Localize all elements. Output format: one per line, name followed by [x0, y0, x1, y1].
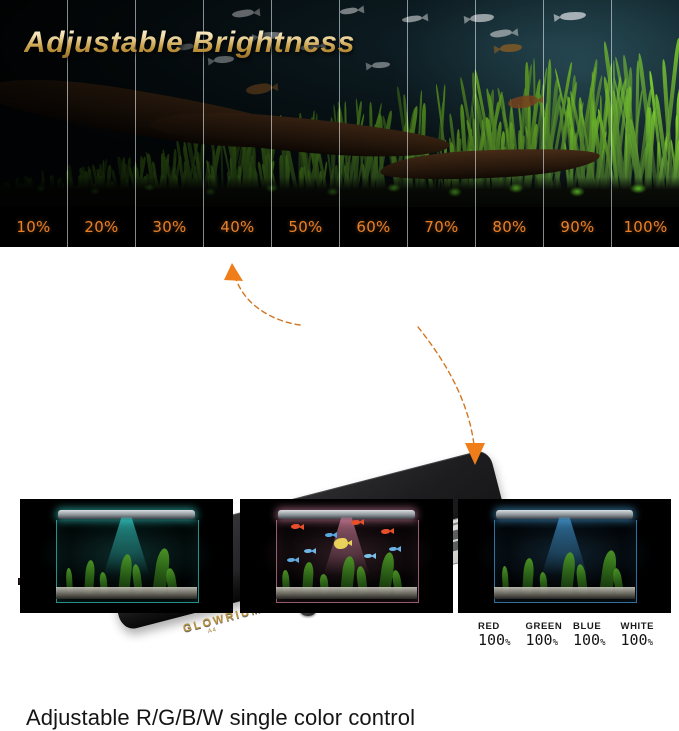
brightness-level-label: 10%: [16, 218, 50, 236]
tank-photo-pink: [240, 499, 453, 613]
brightness-label-bar: 50%: [272, 207, 339, 247]
brightness-column: 70%: [408, 0, 476, 247]
channel-white-value: 100%: [621, 632, 669, 649]
channel-white: WHITE 100%: [621, 621, 669, 657]
tank-fish: [334, 538, 348, 549]
brightness-level-label: 40%: [220, 218, 254, 236]
arrow-up-head: [224, 263, 243, 281]
brightness-level-label: 80%: [492, 218, 526, 236]
brightness-level-label: 90%: [560, 218, 594, 236]
tank-gravel: [56, 587, 197, 599]
brightness-level-label: 70%: [424, 218, 458, 236]
tank-gravel: [494, 587, 635, 599]
channel-blue: BLUE 100%: [573, 621, 621, 657]
brightness-label-bar: 30%: [136, 207, 203, 247]
rgbw-readout: RED 100% GREEN 100% BLUE 100% WHITE 100%: [478, 621, 668, 657]
brightness-label-bar: 90%: [544, 207, 611, 247]
brightness-label-bar: 40%: [204, 207, 271, 247]
tank-fish: [381, 529, 390, 534]
tank-photo-row: [0, 499, 679, 613]
tank-fish: [364, 554, 372, 558]
brightness-label-bar: 60%: [340, 207, 407, 247]
channel-green: GREEN 100%: [526, 621, 574, 657]
channel-green-value: 100%: [526, 632, 574, 649]
tank-fish: [351, 520, 360, 525]
tank-fish: [325, 533, 333, 537]
page-title: Adjustable Brightness: [24, 26, 355, 60]
channel-blue-value: 100%: [573, 632, 621, 649]
remote-model-label: A4: [207, 627, 217, 635]
tank-fish: [304, 549, 312, 553]
tank-photo-blue: [458, 499, 671, 613]
section-subheading: Adjustable R/G/B/W single color control: [26, 705, 415, 731]
brightness-banner: 10%20%30%40%50%60%70%80%90%100% Adjustab…: [0, 0, 679, 247]
tank-photo-teal: [20, 499, 233, 613]
brightness-level-label: 50%: [288, 218, 322, 236]
callout-arrows: [0, 247, 679, 491]
brightness-label-bar: 80%: [476, 207, 543, 247]
brightness-label-bar: 10%: [0, 207, 67, 247]
channel-red-value: 100%: [478, 632, 526, 649]
brightness-column: 90%: [544, 0, 612, 247]
brightness-level-label: 30%: [152, 218, 186, 236]
arrow-down-head: [465, 443, 485, 465]
channel-red: RED 100%: [478, 621, 526, 657]
brightness-level-label: 20%: [84, 218, 118, 236]
arrow-up-path: [236, 279, 300, 325]
tank-gravel: [276, 587, 417, 599]
brightness-label-bar: 100%: [612, 207, 679, 247]
arrow-down-path: [418, 327, 474, 445]
tank-fish: [287, 558, 295, 562]
brightness-label-bar: 70%: [408, 207, 475, 247]
brightness-label-bar: 20%: [68, 207, 135, 247]
remote-section: MODE GLOWRIUM A4 RED 100% GREEN 100% BLU…: [0, 247, 679, 491]
tank-fish: [389, 547, 397, 551]
brightness-column: 80%: [476, 0, 544, 247]
tank-fish: [291, 524, 300, 529]
brightness-level-label: 100%: [623, 218, 667, 236]
brightness-column: 100%: [612, 0, 679, 247]
brightness-level-label: 60%: [356, 218, 390, 236]
